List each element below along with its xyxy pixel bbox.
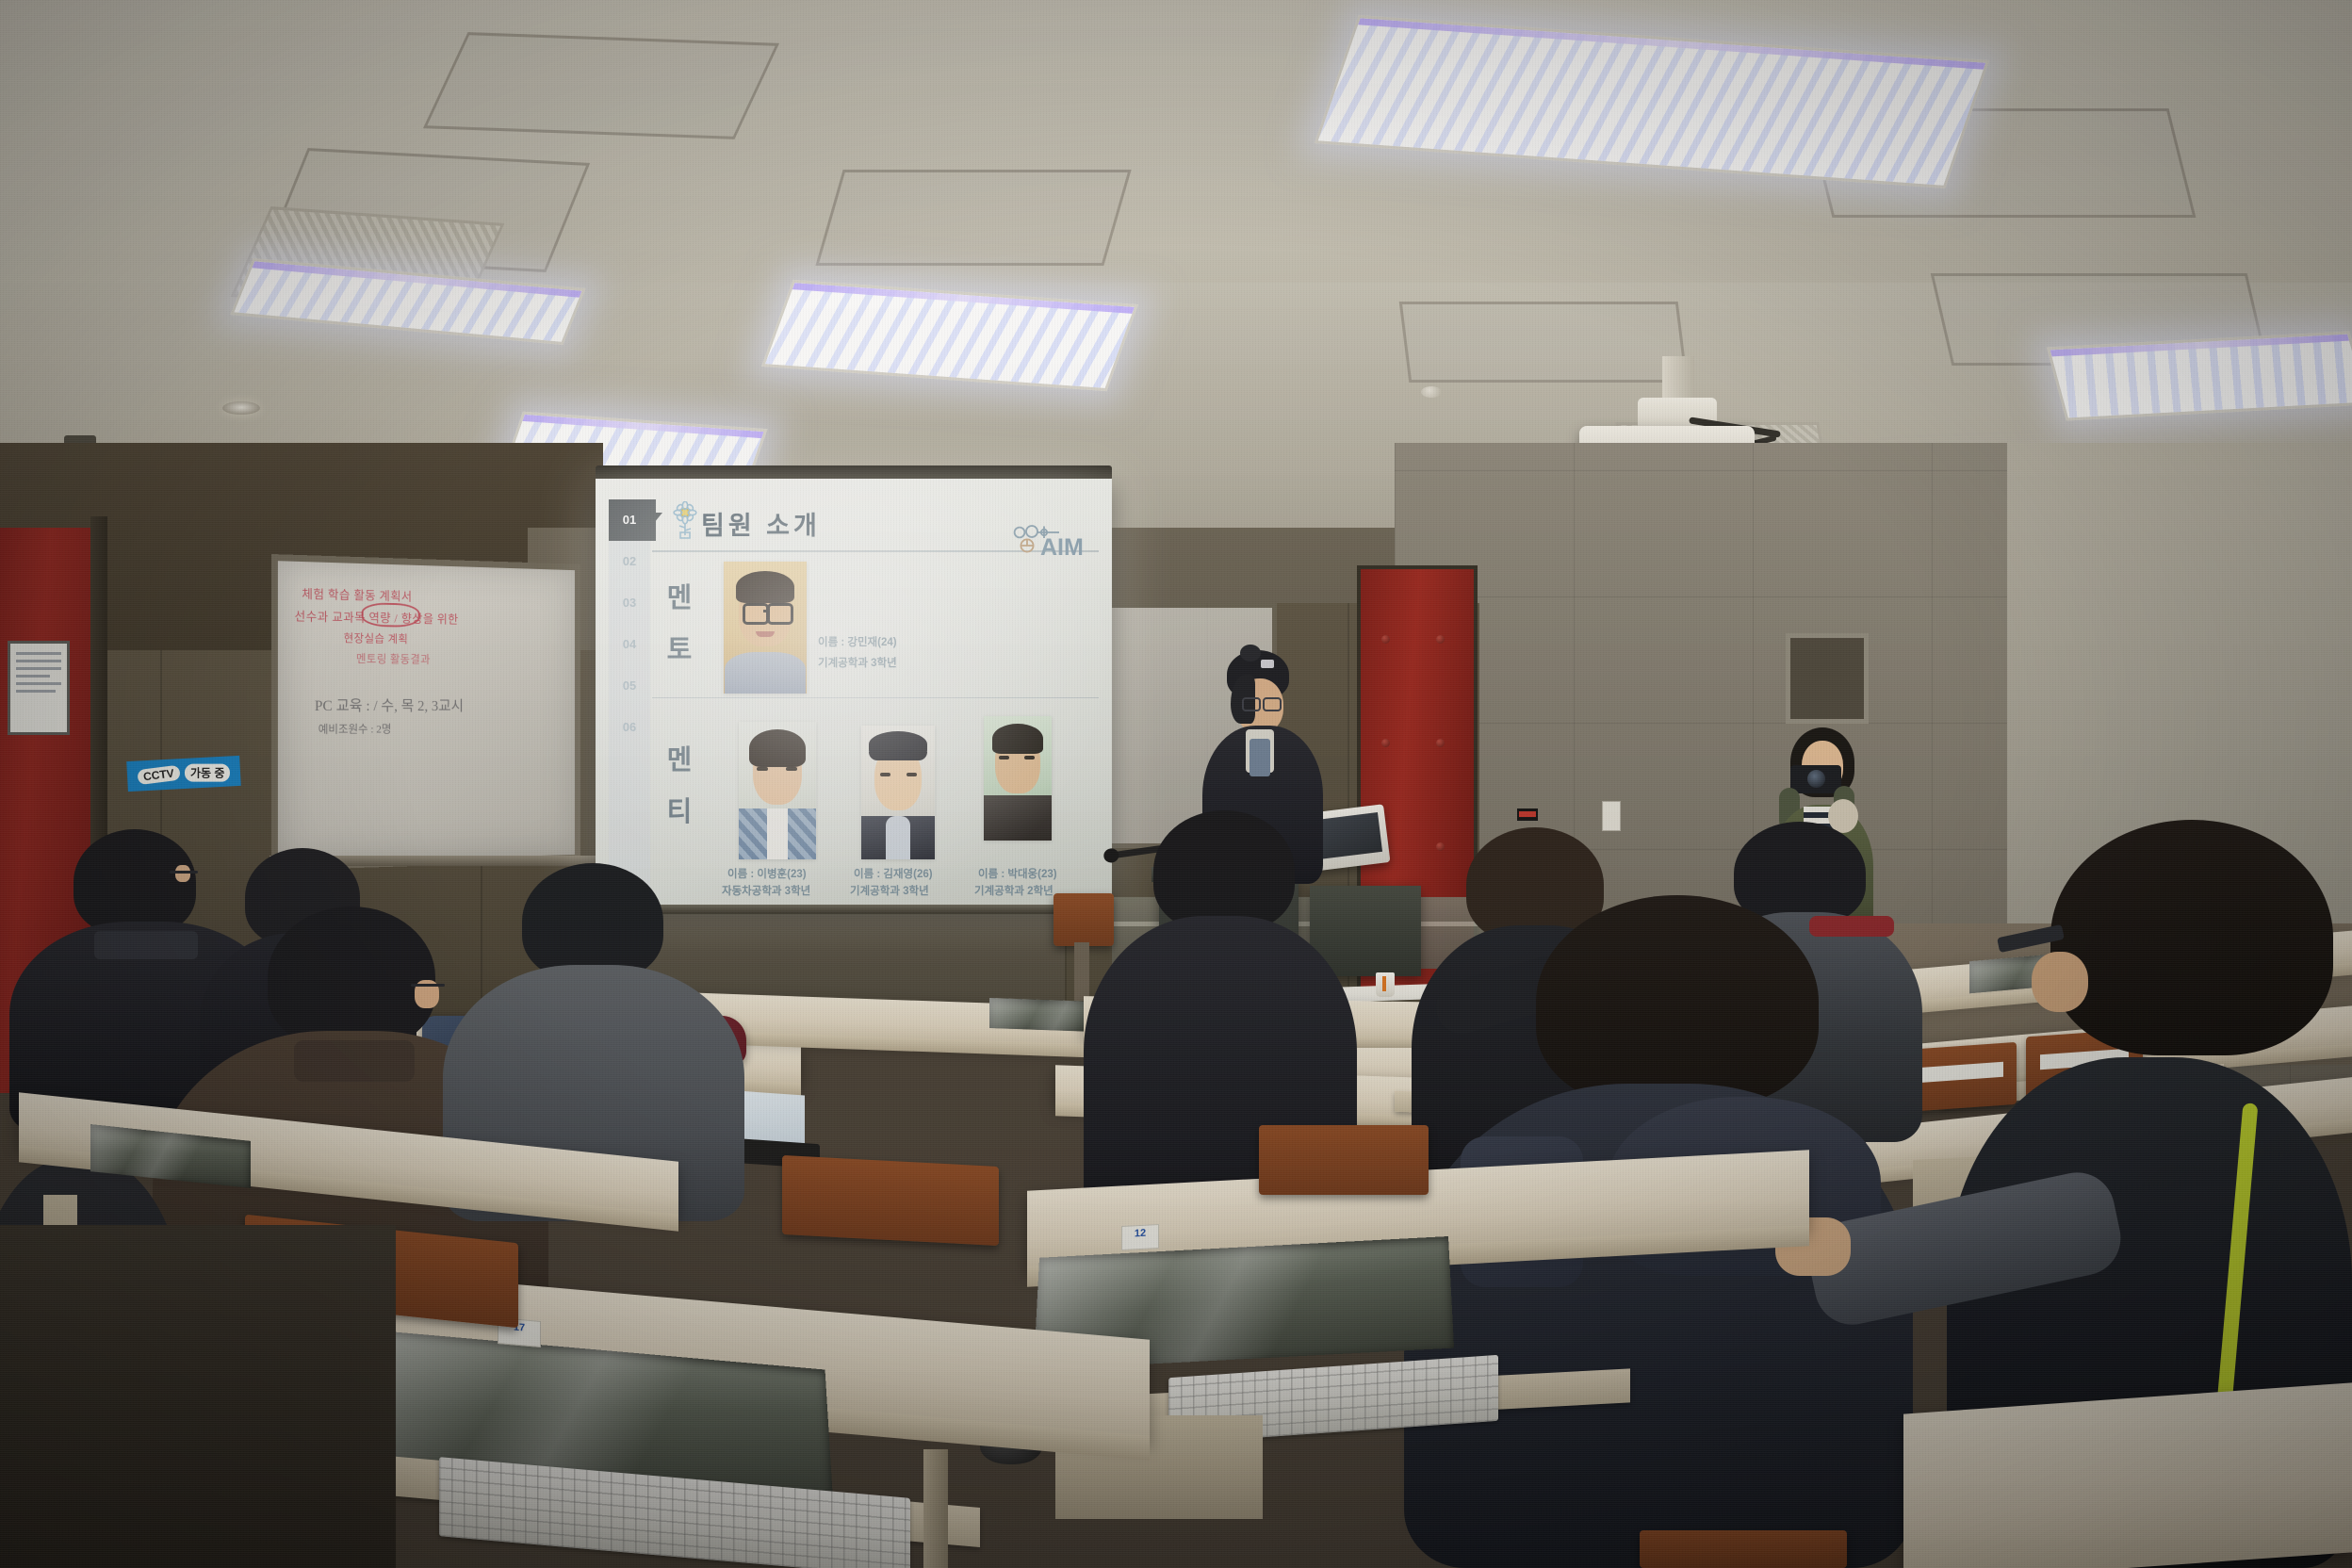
ceiling-downlight	[222, 401, 260, 415]
student-ear	[2032, 952, 2088, 1012]
whiteboard-line-1: 체험 학습 활동 계획서	[302, 584, 412, 605]
aim-logo: AIM	[1012, 524, 1099, 560]
whiteboard-line-4: 멘토링 활동결과	[356, 650, 431, 666]
whiteboard-line-5: PC 교육 : / 수, 목 2, 3교시	[315, 693, 464, 715]
mentee-row-label: 멘 티	[658, 735, 701, 839]
door-notice	[8, 641, 70, 735]
slide-title: 팀원 소개	[701, 505, 821, 542]
slide-nav-03[interactable]: 03	[609, 582, 650, 624]
ceiling-frame	[423, 32, 779, 139]
wall-picture-frame	[1786, 633, 1869, 724]
flower-icon	[669, 501, 701, 539]
paper-cup	[1376, 972, 1395, 997]
mentor-name: 이름 : 강민재(24)	[818, 635, 897, 651]
mentee-2-dept: 기계공학과 3학년	[850, 884, 929, 900]
smoke-detector-icon	[1421, 386, 1442, 398]
floor	[0, 1225, 396, 1568]
presenter-glasses	[1242, 697, 1261, 711]
slide-nav-04[interactable]: 04	[609, 624, 650, 665]
mentor-photo	[724, 562, 807, 694]
student-hair	[1536, 895, 1819, 1108]
whiteboard: 체험 학습 활동 계획서 선수과 교과목 역량 / 향상을 위한 현장실습 계획…	[271, 554, 580, 871]
slide-nav-06[interactable]: 06	[609, 707, 650, 748]
mentor-row-label: 멘 토	[658, 573, 701, 677]
chair-back[interactable]	[782, 1155, 999, 1246]
mentee-photo-2	[861, 726, 935, 859]
student-ear	[175, 865, 190, 882]
chair-back[interactable]	[1640, 1530, 1847, 1568]
classroom-photo: CCTV 가동 중 체험 학습 활동 계획서 선수과 교과목 역량 / 향상을 …	[0, 0, 2352, 1568]
cctv-sign: CCTV 가동 중	[126, 756, 241, 792]
projection-screen: 01 02 03 04 05 06	[596, 479, 1112, 905]
slide-nav-pointer	[650, 513, 662, 528]
desk-front-right	[1903, 1382, 2352, 1568]
whiteboard-line-6: 예비조원수 : 2명	[318, 721, 392, 737]
camera	[1790, 765, 1841, 793]
projection-screen-area: 01 02 03 04 05 06	[596, 479, 1112, 905]
slide-divider	[652, 697, 1099, 698]
mentee-photo-3	[984, 716, 1052, 841]
slide-sidebar: 01 02 03 04 05 06	[609, 499, 650, 888]
desk-number-sticker: 12	[1121, 1224, 1159, 1250]
ceiling-frame	[1399, 302, 1689, 383]
mentee-3-name: 이름 : 박대웅(23)	[978, 867, 1057, 883]
cctv-status: 가동 중	[185, 763, 230, 781]
sweater-collar	[294, 1040, 415, 1082]
slide-nav-02[interactable]: 02	[609, 541, 650, 582]
ceiling-frame	[815, 170, 1131, 266]
mentee-photo-1	[739, 722, 816, 859]
mentee-2-name: 이름 : 김재영(26)	[854, 867, 933, 883]
mentor-dept: 기계공학과 3학년	[818, 656, 897, 672]
student-hair	[268, 906, 435, 1048]
cctv-label: CCTV	[137, 765, 180, 785]
mentee-3-dept: 기계공학과 2학년	[974, 884, 1053, 900]
whiteboard-line-3: 현장실습 계획	[344, 629, 409, 646]
aim-logo-text: AIM	[1040, 534, 1084, 560]
ceiling-light	[2047, 331, 2352, 420]
slide-nav-01[interactable]: 01	[609, 499, 650, 541]
beanie-tag	[1261, 660, 1274, 668]
exit-sign-icon	[1517, 808, 1538, 821]
chair-back[interactable]	[1259, 1125, 1429, 1195]
slide-nav-05[interactable]: 05	[609, 665, 650, 707]
